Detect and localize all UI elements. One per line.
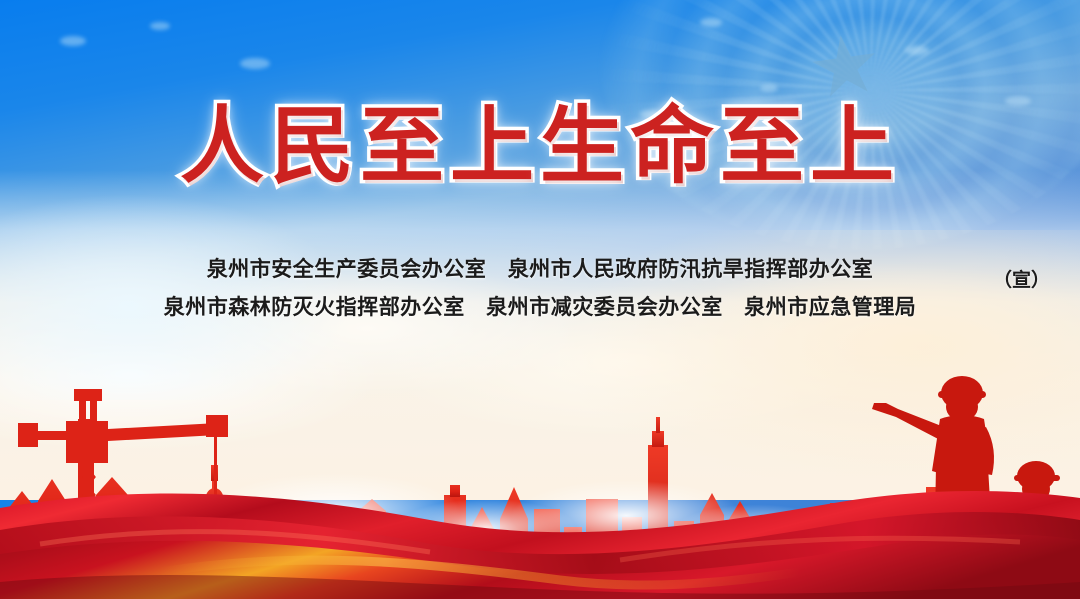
subtitle-block: 泉州市安全生产委员会办公室 泉州市人民政府防汛抗旱指挥部办公室 泉州市森林防灭火… (0, 250, 1080, 326)
sky-speck (700, 18, 722, 27)
sky-speck (760, 84, 778, 92)
subtitle-line-1: 泉州市安全生产委员会办公室 泉州市人民政府防汛抗旱指挥部办公室 (0, 250, 1080, 288)
title-part-1: 人民至上 (180, 104, 540, 188)
sky-speck (150, 22, 170, 30)
subtitle-line-2: 泉州市森林防灭火指挥部办公室 泉州市减灾委员会办公室 泉州市应急管理局 (0, 288, 1080, 326)
sky-speck (60, 36, 86, 46)
annotation-xuan: （宣） (993, 265, 1050, 292)
red-silk-ribbon (0, 464, 1080, 599)
sky-speck (905, 46, 929, 55)
safety-poster: 人民至上生命至上 泉州市安全生产委员会办公室 泉州市人民政府防汛抗旱指挥部办公室… (0, 0, 1080, 599)
sky-speck (240, 58, 270, 69)
poster-title: 人民至上生命至上 (0, 104, 1080, 188)
title-part-2: 生命至上 (540, 104, 900, 188)
